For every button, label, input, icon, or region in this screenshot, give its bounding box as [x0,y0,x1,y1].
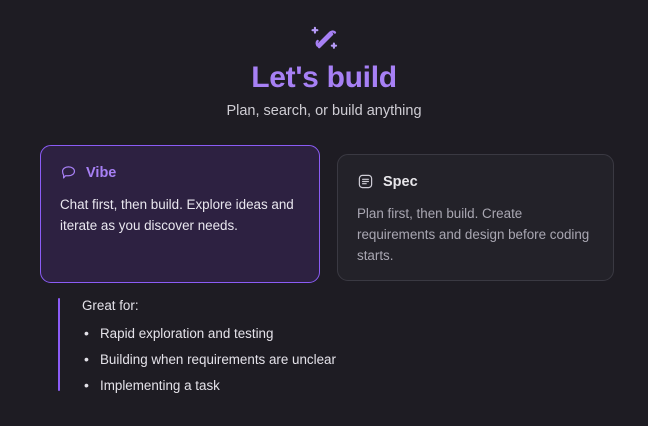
mode-card-vibe[interactable]: Vibe Chat first, then build. Explore ide… [40,145,320,283]
great-for-section: Great for: Rapid exploration and testing… [58,298,336,401]
page-subtitle: Plan, search, or build anything [0,103,648,119]
list-item: Rapid exploration and testing [82,324,336,345]
mode-card-spec[interactable]: Spec Plan first, then build. Create requ… [337,154,614,281]
great-for-label: Great for: [82,298,336,313]
vibe-card-title: Vibe [86,165,116,181]
list-item: Building when requirements are unclear [82,350,336,371]
mode-cards-container: Vibe Chat first, then build. Explore ide… [40,145,614,283]
great-for-content: Great for: Rapid exploration and testing… [60,298,336,401]
list-item: Implementing a task [82,376,336,397]
vibe-card-body: Chat first, then build. Explore ideas an… [60,195,300,237]
page-header: Let's build Plan, search, or build anyth… [0,0,648,119]
document-lines-icon [357,173,374,190]
spec-card-title: Spec [383,174,418,190]
page-title: Let's build [0,62,648,94]
speech-bubble-icon [60,164,77,181]
spec-card-header: Spec [357,173,594,190]
magic-wand-icon [307,22,341,56]
vibe-card-header: Vibe [60,164,300,181]
great-for-list: Rapid exploration and testing Building w… [82,324,336,396]
spec-card-body: Plan first, then build. Create requireme… [357,204,594,266]
